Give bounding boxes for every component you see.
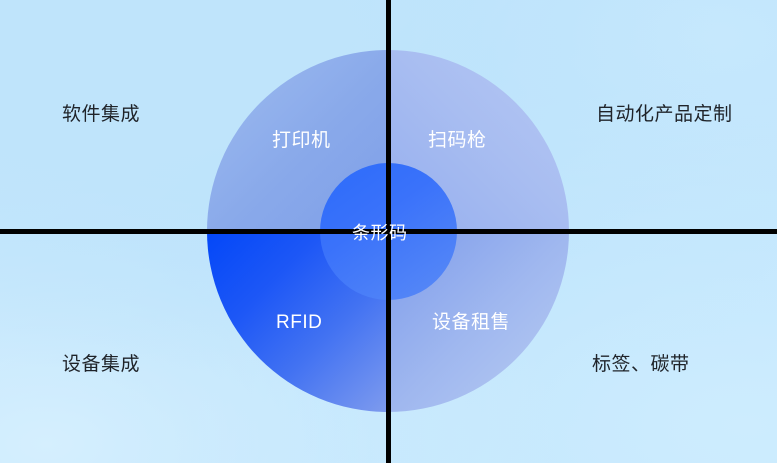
corner-label-device-integration: 设备集成	[62, 355, 140, 374]
core-label-barcode: 条形码	[352, 224, 408, 242]
diagram-canvas: 打印机 扫码枪 RFID 设备租售 条形码 软件集成 自动化产品定制 设备集成 …	[0, 0, 777, 463]
ring-label-rental: 设备租售	[432, 313, 510, 332]
corner-label-automation-customized: 自动化产品定制	[596, 105, 733, 124]
corner-label-label-ribbon: 标签、碳带	[592, 355, 690, 374]
ring-label-rfid: RFID	[276, 313, 322, 332]
ring-label-printer: 打印机	[272, 131, 331, 150]
ring-label-scanner: 扫码枪	[428, 131, 487, 150]
corner-label-software-integration: 软件集成	[62, 105, 140, 124]
